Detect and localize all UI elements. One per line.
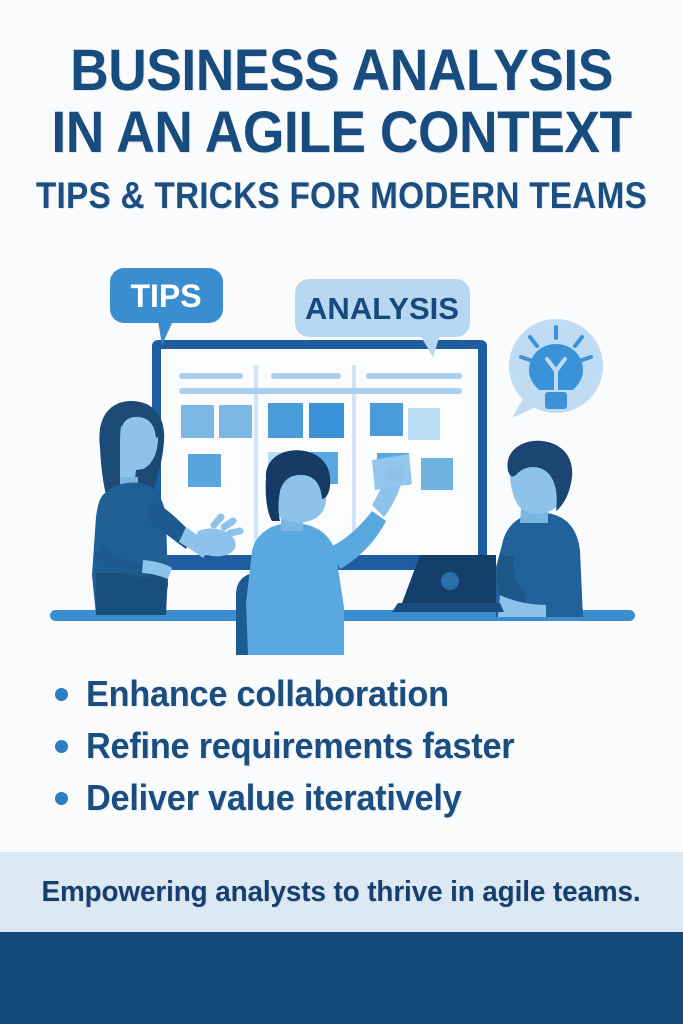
analysis-bubble-label: ANALYSIS — [305, 291, 459, 326]
bullet-dot-icon — [55, 792, 68, 805]
page-subtitle: TIPS & TRICKS FOR MODERN TEAMS — [34, 174, 649, 218]
list-item-label: Deliver value iteratively — [86, 778, 461, 818]
poster-canvas: BUSINESS ANALYSIS IN AN AGILE CONTEXT TI… — [0, 0, 683, 1024]
list-item: Refine requirements faster — [55, 720, 635, 772]
illustration-scene: TIPS ANALYSIS — [0, 255, 683, 655]
sticky-note — [188, 454, 221, 487]
sticky-note — [309, 403, 344, 438]
list-item-label: Refine requirements faster — [86, 726, 514, 766]
benefits-list: Enhance collaboration Refine requirement… — [55, 668, 635, 824]
sticky-note — [408, 408, 440, 440]
footer-tagline-band: Empowering analysts to thrive in agile t… — [0, 852, 683, 932]
sticky-note — [421, 458, 453, 490]
presenter-lower-body — [96, 573, 168, 615]
speech-bubble-tips[interactable]: TIPS — [110, 268, 223, 345]
bullet-dot-icon — [55, 740, 68, 753]
list-item: Deliver value iteratively — [55, 772, 635, 824]
page-title-line-2: IN AN AGILE CONTEXT — [27, 102, 655, 164]
poster-header: BUSINESS ANALYSIS IN AN AGILE CONTEXT TI… — [0, 40, 683, 218]
sticky-note — [181, 405, 214, 438]
laptop-logo — [441, 572, 459, 590]
sticky-note — [268, 403, 303, 438]
bullet-dot-icon — [55, 688, 68, 701]
footer-tagline: Empowering analysts to thrive in agile t… — [42, 875, 641, 909]
sticky-note — [370, 403, 403, 436]
seated-torso — [246, 523, 344, 655]
footer-color-bar — [0, 932, 683, 1024]
tips-bubble-label: TIPS — [130, 278, 201, 314]
list-item: Enhance collaboration — [55, 668, 635, 720]
list-item-label: Enhance collaboration — [86, 674, 449, 714]
idea-bubble[interactable] — [509, 319, 603, 418]
sticky-note — [219, 405, 252, 438]
page-title-line-1: BUSINESS ANALYSIS — [27, 40, 655, 102]
laptop-base — [392, 603, 504, 612]
